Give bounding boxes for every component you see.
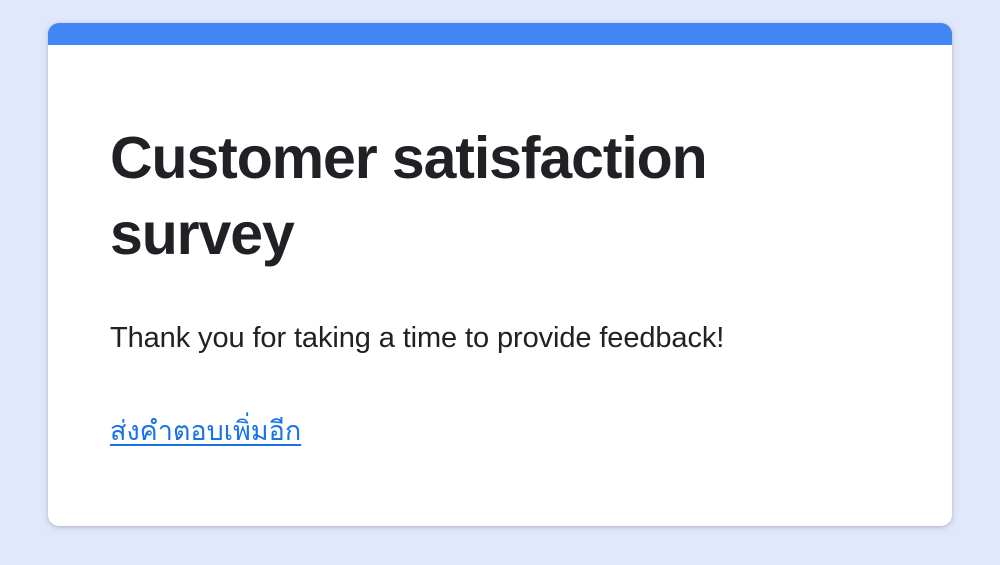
form-confirmation-page: Customer satisfaction survey Thank you f… bbox=[0, 0, 1000, 565]
page-title: Customer satisfaction survey bbox=[110, 121, 870, 272]
card-header-accent-bar bbox=[48, 23, 952, 45]
confirmation-message: Thank you for taking a time to provide f… bbox=[110, 319, 896, 357]
confirmation-card: Customer satisfaction survey Thank you f… bbox=[48, 23, 952, 526]
submit-another-response-link[interactable]: ส่งคำตอบเพิ่มอีก bbox=[110, 414, 301, 449]
card-body: Customer satisfaction survey Thank you f… bbox=[48, 45, 952, 526]
